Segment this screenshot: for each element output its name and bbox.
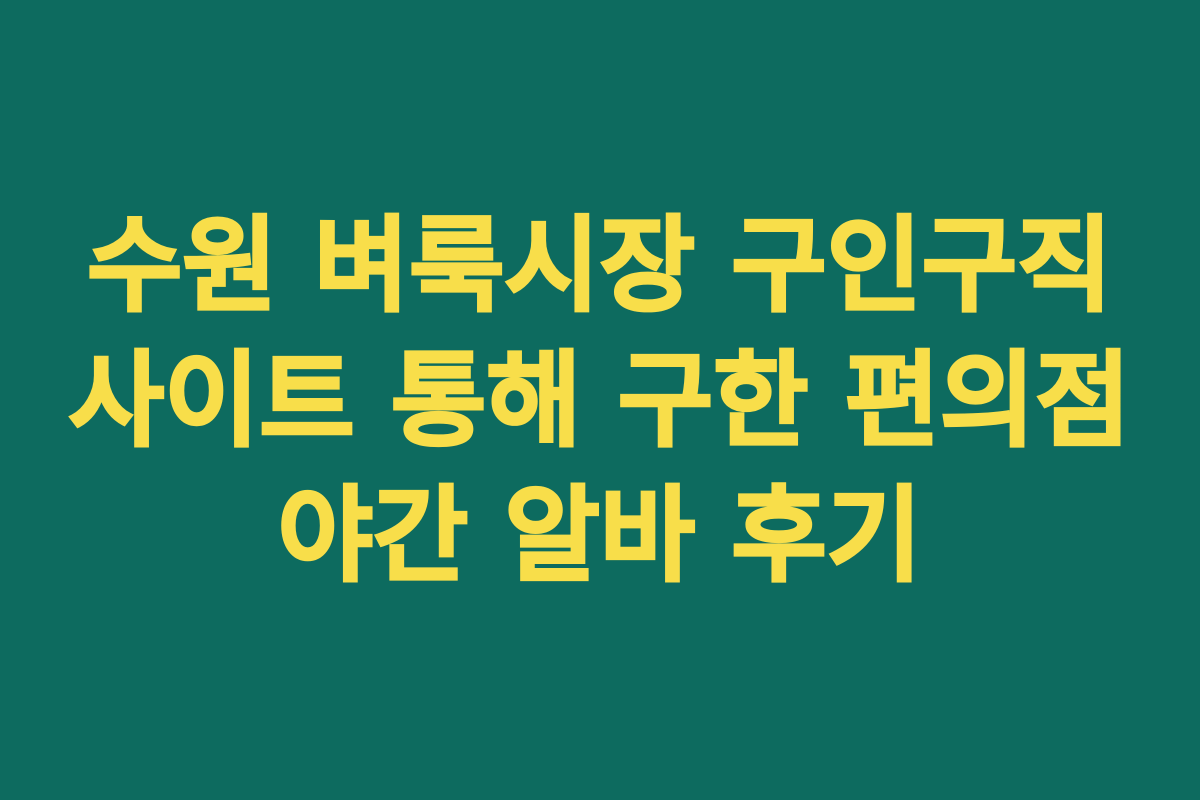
title-line-3: 야간 알바 후기 <box>24 469 1176 604</box>
title-line-2: 사이트 통해 구한 편의점 <box>24 334 1176 469</box>
thumbnail-canvas: 수원 벼룩시장 구인구직 사이트 통해 구한 편의점 야간 알바 후기 <box>0 0 1200 800</box>
title-line-1: 수원 벼룩시장 구인구직 <box>24 199 1176 334</box>
title-block: 수원 벼룩시장 구인구직 사이트 통해 구한 편의점 야간 알바 후기 <box>0 199 1200 604</box>
